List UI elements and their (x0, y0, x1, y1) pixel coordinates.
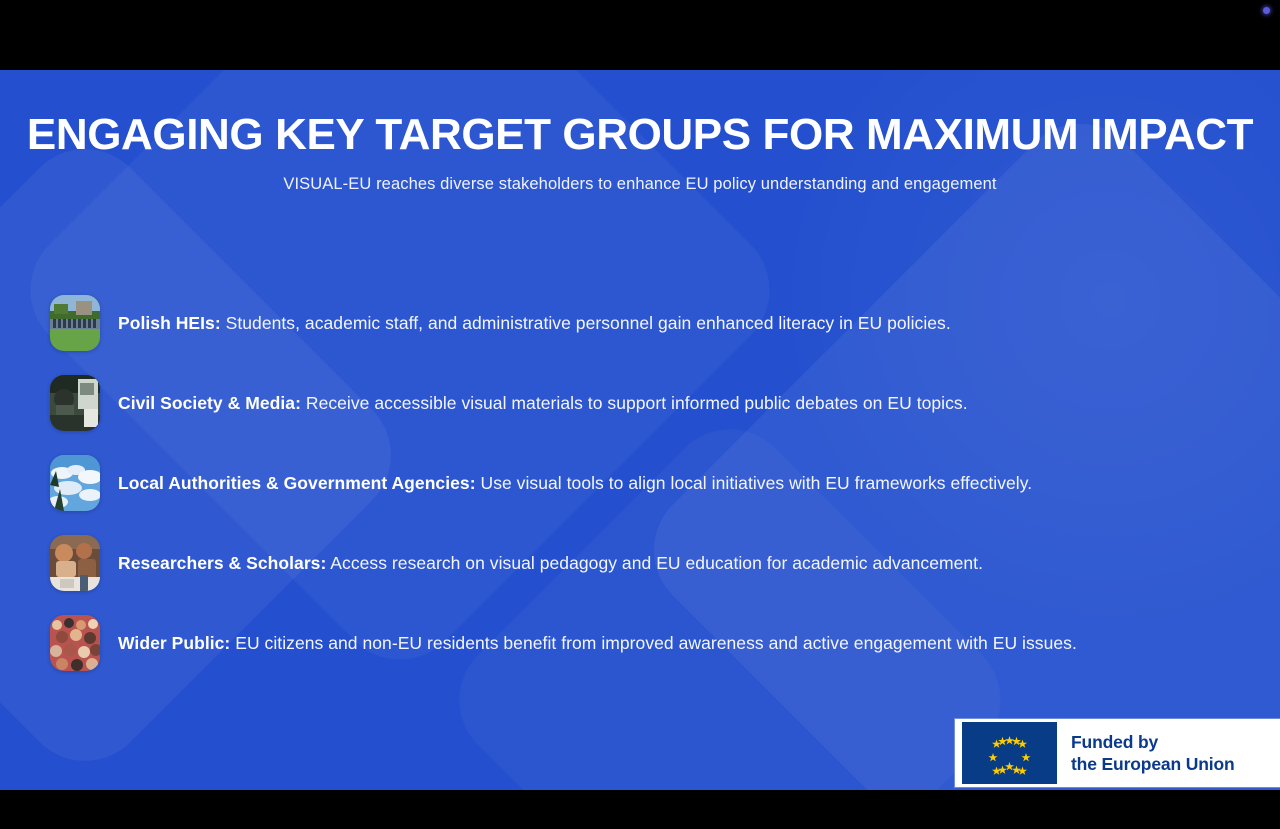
list-item-description: EU citizens and non-EU residents benefit… (235, 633, 1077, 653)
list-item-text: Local Authorities & Government Agencies:… (118, 472, 1032, 495)
list-item: Polish HEIs: Students, academic staff, a… (50, 295, 1240, 351)
list-item-label: Wider Public: (118, 633, 230, 653)
list-item-description: Access research on visual pedagogy and E… (330, 553, 983, 573)
list-item-text: Polish HEIs: Students, academic staff, a… (118, 312, 951, 335)
presentation-slide: ENGAGING KEY TARGET GROUPS FOR MAXIMUM I… (0, 70, 1280, 790)
list-item-label: Researchers & Scholars: (118, 553, 326, 573)
list-item-description: Receive accessible visual materials to s… (306, 393, 968, 413)
list-item-label: Polish HEIs: (118, 313, 221, 333)
list-item-description: Students, academic staff, and administra… (226, 313, 951, 333)
sky-with-clouds-thumbnail (50, 455, 100, 511)
list-item-text: Researchers & Scholars: Access research … (118, 552, 983, 575)
list-item: Civil Society & Media: Receive accessibl… (50, 375, 1240, 431)
list-item: Local Authorities & Government Agencies:… (50, 455, 1240, 511)
slide-subheadline: VISUAL-EU reaches diverse stakeholders t… (0, 175, 1280, 194)
list-item-description: Use visual tools to align local initiati… (481, 473, 1033, 493)
list-item: Researchers & Scholars: Access research … (50, 535, 1240, 591)
letterbox-bottom-bar (0, 790, 1280, 829)
eu-funding-badge: Funded by the European Union (955, 719, 1280, 787)
list-item-label: Local Authorities & Government Agencies: (118, 473, 476, 493)
group-photo-on-lawn-thumbnail (50, 295, 100, 351)
target-groups-list: Polish HEIs: Students, academic staff, a… (50, 295, 1240, 695)
eu-funding-text: Funded by the European Union (1071, 731, 1235, 776)
list-item: Wider Public: EU citizens and non-EU res… (50, 615, 1240, 671)
eu-funding-line-1: Funded by (1071, 731, 1235, 753)
list-item-text: Wider Public: EU citizens and non-EU res… (118, 632, 1077, 655)
slide-headline: ENGAGING KEY TARGET GROUPS FOR MAXIMUM I… (0, 112, 1280, 159)
media-camera-crew-thumbnail (50, 375, 100, 431)
eu-funding-line-2: the European Union (1071, 753, 1235, 775)
list-item-label: Civil Society & Media: (118, 393, 301, 413)
letterbox-top-bar (0, 0, 1280, 70)
list-item-text: Civil Society & Media: Receive accessibl… (118, 392, 968, 415)
screen: ENGAGING KEY TARGET GROUPS FOR MAXIMUM I… (0, 0, 1280, 829)
diverse-crowd-thumbnail (50, 615, 100, 671)
cursor-dot-icon (1263, 7, 1270, 14)
researchers-at-desk-thumbnail (50, 535, 100, 591)
eu-flag-icon (962, 722, 1057, 784)
